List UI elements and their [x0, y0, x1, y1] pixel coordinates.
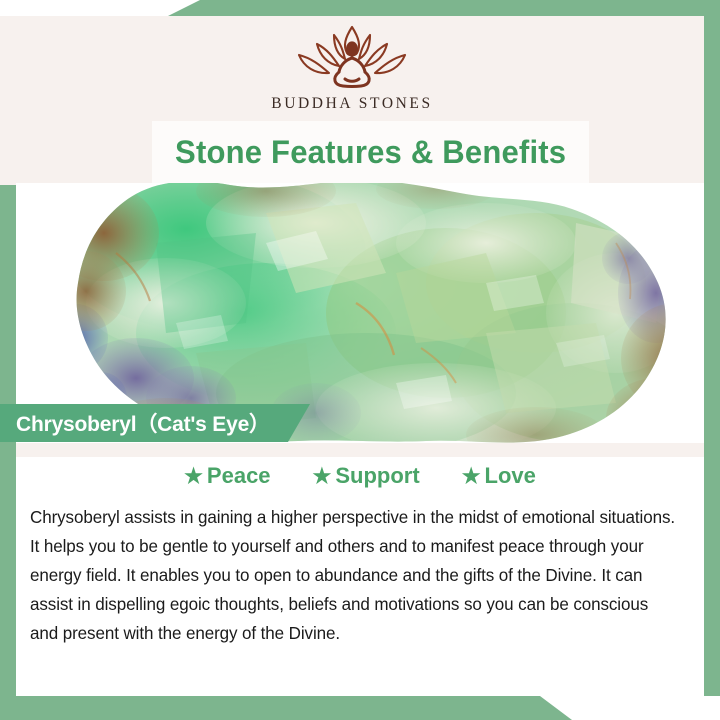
page-title: Stone Features & Benefits	[175, 134, 566, 171]
frame-right-bar	[704, 0, 720, 696]
brand-logo: BUDDHA STONES	[0, 22, 704, 113]
brand-name: BUDDHA STONES	[0, 95, 704, 113]
stone-description: Chrysoberyl assists in gaining a higher …	[30, 503, 680, 648]
title-banner: Stone Features & Benefits	[152, 121, 589, 183]
star-icon: ★	[184, 466, 203, 487]
benefit-label: Support	[335, 463, 419, 489]
infographic-card: BUDDHA STONES	[0, 0, 720, 720]
frame-top-bar	[0, 0, 720, 16]
stone-name-label: Chrysoberyl（Cat's Eye）	[16, 408, 270, 438]
benefit-label: Love	[485, 463, 536, 489]
benefit-item-love: ★ Love	[462, 463, 536, 489]
benefits-row: ★ Peace ★ Support ★ Love	[16, 463, 704, 489]
stone-name-ribbon: Chrysoberyl（Cat's Eye）	[0, 404, 310, 442]
star-icon: ★	[462, 466, 481, 487]
benefit-item-peace: ★ Peace	[184, 463, 270, 489]
lotus-meditation-icon	[277, 22, 427, 92]
frame-bottom-bar	[0, 696, 720, 720]
star-icon: ★	[313, 466, 332, 487]
benefit-item-support: ★ Support	[313, 463, 420, 489]
benefit-label: Peace	[207, 463, 271, 489]
cream-divider-strip	[16, 443, 704, 457]
